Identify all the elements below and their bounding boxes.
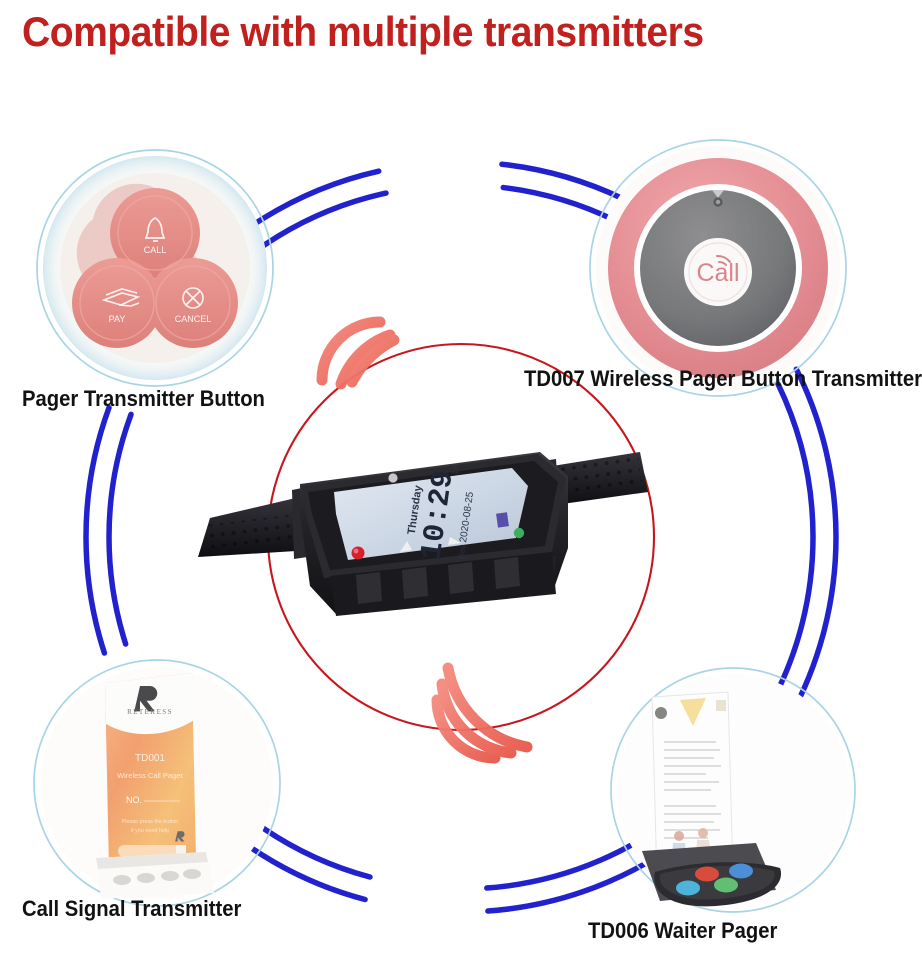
connector-diagram: CALL PAY CANCEL bbox=[0, 0, 922, 956]
infographic-canvas: CALL PAY CANCEL bbox=[0, 0, 922, 956]
caption-call-signal-transmitter: Call Signal Transmitter bbox=[22, 896, 241, 922]
call-key-label: CALL bbox=[144, 245, 167, 255]
card-number-label: NO. bbox=[126, 795, 142, 805]
cancel-key-label: CANCEL bbox=[175, 314, 212, 324]
card-footer: Please press the button bbox=[122, 819, 179, 825]
watch-button-4[interactable] bbox=[494, 557, 520, 589]
pay-key-label: PAY bbox=[109, 314, 126, 324]
watch-button-3[interactable] bbox=[448, 562, 474, 594]
watch-button-1[interactable] bbox=[356, 572, 382, 604]
key-red[interactable] bbox=[695, 867, 719, 882]
caption-pager-transmitter-button: Pager Transmitter Button bbox=[22, 386, 265, 412]
speaker-hole-icon bbox=[388, 473, 397, 482]
key-light-blue[interactable] bbox=[676, 881, 700, 896]
signal-lower-right bbox=[437, 668, 527, 758]
td001-base[interactable] bbox=[96, 852, 214, 899]
card-model: TD001 bbox=[135, 753, 165, 764]
caption-td006-waiter-pager: TD006 Waiter Pager bbox=[588, 918, 777, 944]
card-brand: RETEKESS bbox=[127, 708, 173, 716]
key-blue[interactable] bbox=[729, 864, 753, 879]
signal-upper-left bbox=[322, 322, 394, 384]
svg-text:if you need help: if you need help bbox=[131, 828, 169, 834]
call-button-label: Call bbox=[696, 259, 739, 287]
lcd-seconds: 15 bbox=[450, 464, 461, 476]
page-title: Compatible with multiple transmitters bbox=[22, 8, 840, 56]
key-green[interactable] bbox=[714, 878, 738, 893]
caption-td007-wireless-pager-button-transmitter: TD007 Wireless Pager Button Transmitter bbox=[524, 366, 922, 392]
product-td006-waiter-pager[interactable] bbox=[617, 674, 849, 906]
product-watch-receiver[interactable]: Thursday 10:29 15 2020-08-25 Rev bbox=[198, 452, 648, 616]
card-subtitle: Wireless Call Pager bbox=[117, 771, 183, 780]
td001-table-card: RETEKESS TD001 Wireless Call Pager NO. P… bbox=[105, 673, 196, 869]
product-call-signal-transmitter[interactable]: RETEKESS TD001 Wireless Call Pager NO. P… bbox=[41, 667, 273, 899]
led-red bbox=[352, 547, 365, 560]
product-td007-wireless-pager-button[interactable]: Call bbox=[596, 146, 840, 390]
watch-button-2[interactable] bbox=[402, 567, 428, 599]
lcd-battery-icon bbox=[496, 512, 509, 527]
product-pager-transmitter-button[interactable]: CALL PAY CANCEL bbox=[43, 156, 267, 380]
led-green bbox=[514, 528, 524, 538]
